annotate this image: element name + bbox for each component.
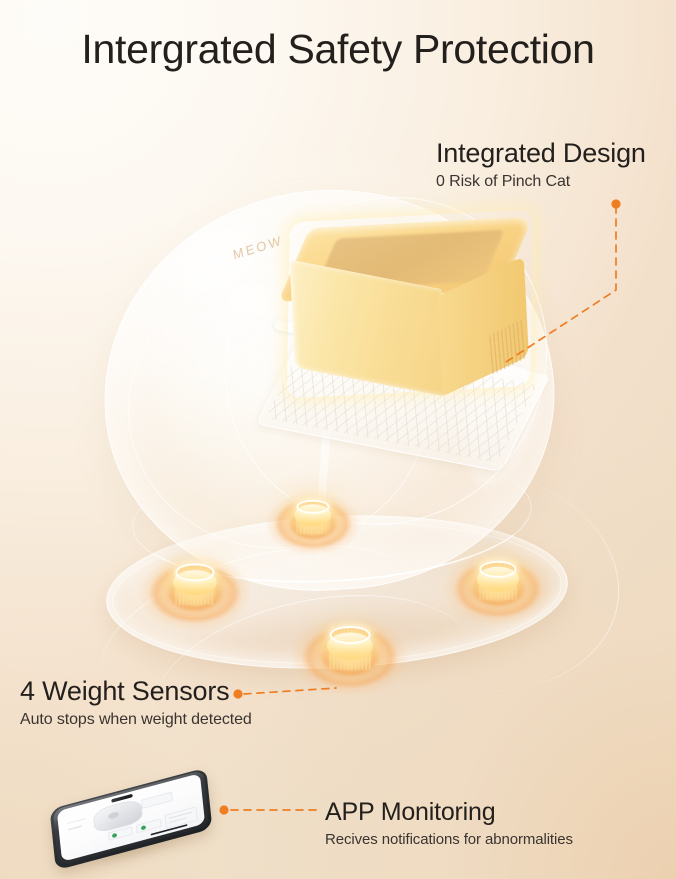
- callout-integrated-design-subtext: 0 Risk of Pinch Cat: [436, 172, 646, 193]
- page-title: Intergrated Safety Protection: [0, 26, 676, 73]
- phone-mockup: [44, 766, 220, 870]
- callout-app-monitoring-heading: APP Monitoring: [325, 798, 573, 827]
- callout-app-monitoring-subtext: Recives notifications for abnormalities: [325, 830, 573, 850]
- background-center-glow: [0, 0, 676, 879]
- callout-weight-sensors-heading: 4 Weight Sensors: [20, 676, 252, 707]
- callout-weight-sensors: 4 Weight Sensors Auto stops when weight …: [20, 676, 252, 731]
- callout-integrated-design: Integrated Design 0 Risk of Pinch Cat: [436, 138, 646, 193]
- infographic-canvas: Intergrated Safety Protection MEOW: [0, 0, 676, 879]
- callout-weight-sensors-subtext: Auto stops when weight detected: [20, 710, 252, 731]
- callout-integrated-design-heading: Integrated Design: [436, 138, 646, 169]
- callout-app-monitoring: APP Monitoring Recives notifications for…: [325, 798, 573, 850]
